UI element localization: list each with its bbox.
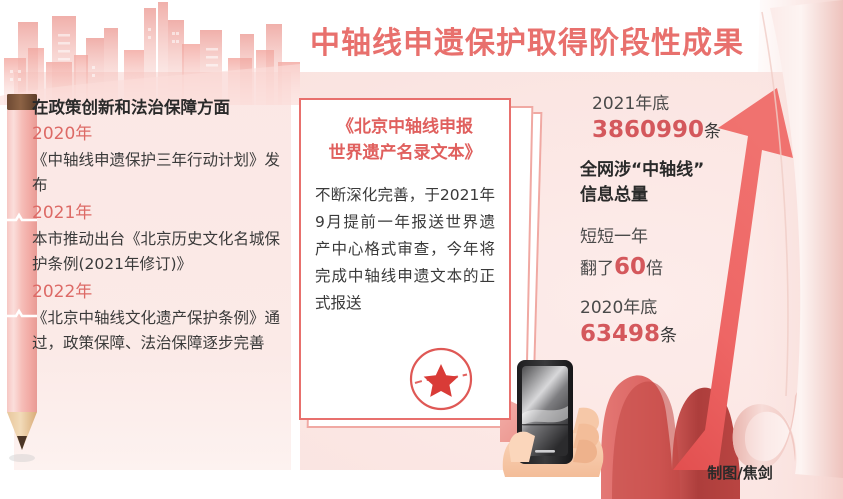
stat-2020-value: 63498 xyxy=(580,321,660,347)
credit-line: 制图/焦剑 xyxy=(660,462,820,483)
growth-value: 60 xyxy=(614,254,646,280)
left-entry-year-2020: 2020年 xyxy=(32,121,294,148)
red-star-seal-icon xyxy=(408,346,474,412)
stat-2021-unit: 条 xyxy=(704,122,721,142)
left-entry-text-2021: 本市推动出台《北京历史文化名城保护条例(2021年修订)》 xyxy=(32,227,294,277)
stat-block-2021: 2021年底 3860990条 xyxy=(592,92,782,144)
caption-line1: 全网涉“中轴线” xyxy=(580,158,750,183)
stat-2020-unit: 条 xyxy=(660,326,677,346)
growth-prefix: 翻了 xyxy=(580,259,614,279)
left-column: 在政策创新和法治保障方面 2020年 《中轴线申遗保护三年行动计划》发布 202… xyxy=(32,96,294,356)
page-title: 中轴线申遗保护取得阶段性成果 xyxy=(292,18,762,62)
left-column-heading: 在政策创新和法治保障方面 xyxy=(32,96,294,119)
card-title-line2: 世界遗产名录文本》 xyxy=(311,140,499,166)
infographic-canvas: 中轴线申遗保护取得阶段性成果 xyxy=(0,0,843,499)
card-body-text: 不断深化完善，于2021年9月提前一年报送世界遗产中心格式审查，今年将完成中轴线… xyxy=(315,182,495,317)
growth-suffix: 倍 xyxy=(646,259,663,279)
hand-holding-smartphone-icon xyxy=(495,352,625,477)
stat-2021-label: 2021年底 xyxy=(592,92,782,116)
growth-block: 短短一年 翻了60倍 xyxy=(580,222,750,284)
growth-line1: 短短一年 xyxy=(580,222,750,252)
document-card: 《北京中轴线申报 世界遗产名录文本》 不断深化完善，于2021年9月提前一年报送… xyxy=(299,98,511,420)
city-skyline-icon xyxy=(0,0,300,105)
caption-block-total: 全网涉“中轴线” 信息总量 xyxy=(580,158,750,208)
stat-2020-label: 2020年底 xyxy=(580,296,770,320)
left-entry-text-2020: 《中轴线申遗保护三年行动计划》发布 xyxy=(32,148,294,198)
left-entry-year-2021: 2021年 xyxy=(32,200,294,227)
caption-line2: 信息总量 xyxy=(580,183,750,208)
stat-block-2020: 2020年底 63498条 xyxy=(580,296,770,348)
left-entry-year-2022: 2022年 xyxy=(32,279,294,306)
stat-2021-value: 3860990 xyxy=(592,117,704,143)
card-title-line1: 《北京中轴线申报 xyxy=(311,114,499,140)
left-entry-text-2022: 《北京中轴线文化遗产保护条例》通过，政策保障、法治保障逐步完善 xyxy=(32,306,294,356)
